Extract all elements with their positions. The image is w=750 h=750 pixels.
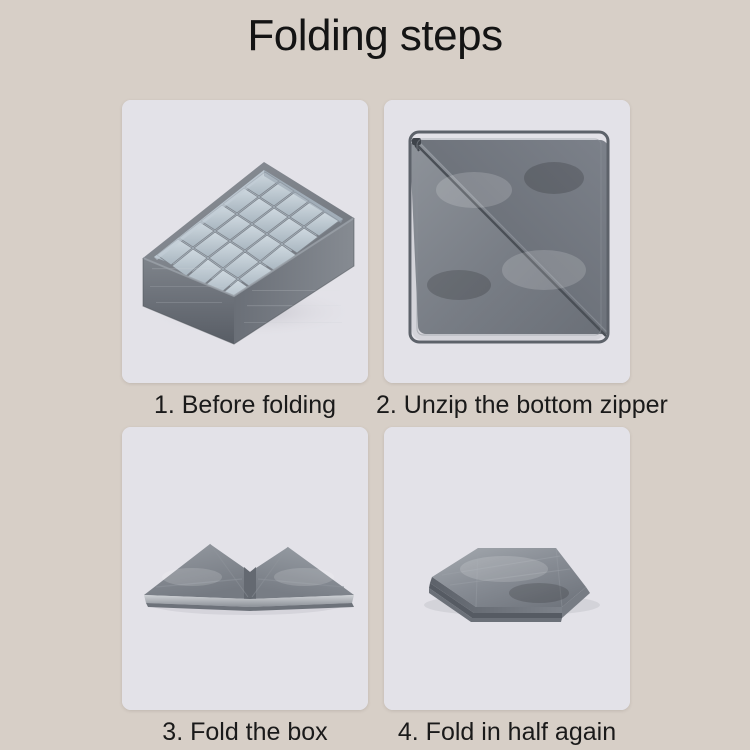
step-3-caption: 3. Fold the box xyxy=(122,710,368,750)
step-2-photo-card xyxy=(384,100,630,383)
step-3-photo-card xyxy=(122,427,368,710)
step-card-1: 1. Before folding xyxy=(122,100,368,423)
step-4-caption: 4. Fold in half again xyxy=(376,710,638,750)
folded-triangular-flaps-photo xyxy=(122,427,368,710)
steps-grid: 1. Before folding xyxy=(122,100,630,750)
flat-folded-fabric-stack-photo xyxy=(384,427,630,710)
step-card-2: 2. Unzip the bottom zipper xyxy=(384,100,630,423)
page-title: Folding steps xyxy=(0,8,750,64)
step-card-3: 3. Fold the box xyxy=(122,427,368,750)
step-1-photo-card xyxy=(122,100,368,383)
folding-steps-page: Folding steps xyxy=(0,0,750,750)
step-1-caption: 1. Before folding xyxy=(122,383,368,423)
storage-box-with-compartments-photo xyxy=(122,100,368,383)
step-card-4: 4. Fold in half again xyxy=(384,427,630,750)
unzipped-flat-fabric-square-photo xyxy=(384,100,630,383)
step-2-caption: 2. Unzip the bottom zipper xyxy=(376,383,638,423)
step-4-photo-card xyxy=(384,427,630,710)
